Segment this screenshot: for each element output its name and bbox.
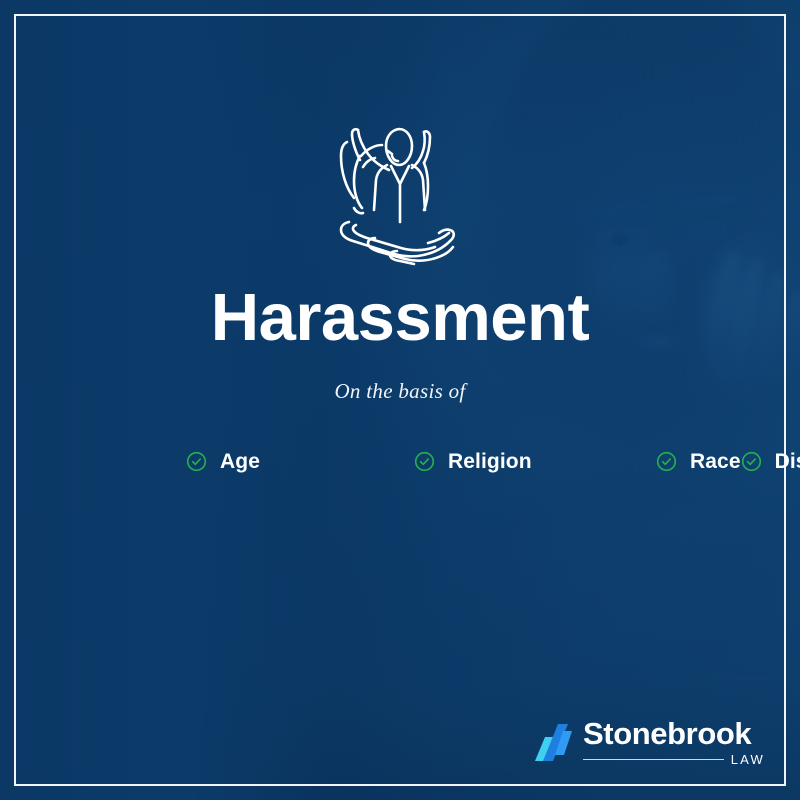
list-item: Race	[656, 450, 741, 474]
stonebrook-law-logo[interactable]: Stonebrook LAW	[527, 718, 765, 770]
logo-divider-rule	[583, 759, 724, 760]
logo-text-block: Stonebrook LAW	[583, 718, 765, 766]
list-item-label: Disability	[775, 450, 800, 474]
check-circle-icon	[656, 451, 677, 472]
list-item-label: Religion	[448, 450, 532, 474]
logo-subline: LAW	[583, 753, 765, 766]
logo-law-label: LAW	[731, 753, 765, 766]
stonebrook-chevron-bars-icon	[527, 721, 572, 761]
logo-wordmark: Stonebrook	[583, 718, 765, 751]
poster-content: Harassment On the basis of Age	[0, 0, 800, 800]
list-item-label: Age	[220, 450, 260, 474]
list-item: Religion	[414, 450, 656, 474]
list-item: Age	[186, 450, 414, 474]
hand-cradling-distressed-person-icon	[325, 96, 475, 278]
check-circle-icon	[186, 451, 207, 472]
list-item-label: Race	[690, 450, 741, 474]
check-circle-icon	[741, 451, 762, 472]
subtitle: On the basis of	[0, 379, 800, 404]
page-title: Harassment	[0, 284, 800, 351]
harassment-poster: Harassment On the basis of Age	[0, 0, 800, 800]
basis-list: Age Religion Race	[186, 434, 656, 489]
check-circle-icon	[414, 451, 435, 472]
list-item: Disability	[741, 450, 800, 474]
